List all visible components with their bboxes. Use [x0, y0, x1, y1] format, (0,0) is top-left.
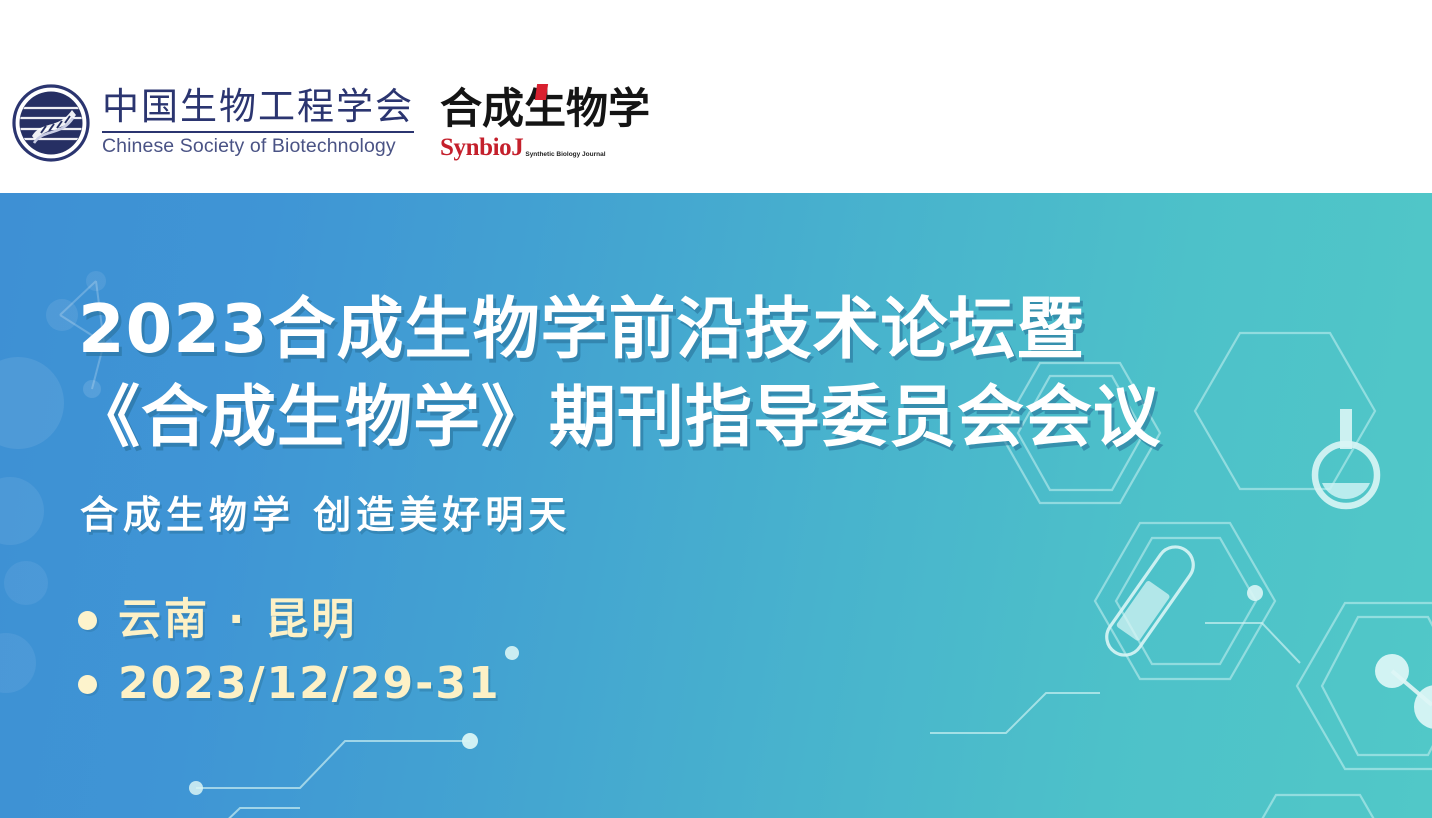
society-wordmark: 中国生物工程学会 Chinese Society of Biotechnolog…	[102, 84, 414, 157]
banner-location-text: 云南 · 昆明	[118, 594, 357, 646]
journal-logo: 合成生物学 SynbioJ Synthetic Biology Journal	[440, 84, 650, 161]
society-divider-rule	[102, 131, 414, 133]
banner-title-line-2: 《合成生物学》期刊指导委员会会议	[73, 378, 1161, 456]
banner-slogan: 合成生物学 创造美好明天	[80, 492, 571, 538]
chinese-society-of-biotechnology-emblem-icon	[12, 84, 90, 162]
bullet-dot-icon	[78, 675, 97, 694]
society-name-en: Chinese Society of Biotechnology	[102, 135, 414, 157]
journal-subtitle-group: SynbioJ Synthetic Biology Journal	[440, 135, 650, 161]
bullet-dot-icon	[78, 611, 97, 630]
logo-group: 中国生物工程学会 Chinese Society of Biotechnolog…	[12, 84, 650, 162]
banner-meta-date: 2023/12/29-31	[78, 652, 501, 716]
journal-tagline-en: Synthetic Biology Journal	[525, 151, 605, 162]
banner-meta-list: 云南 · 昆明 2023/12/29-31	[78, 588, 501, 716]
banner-meta-location: 云南 · 昆明	[78, 588, 501, 652]
banner-title-line-1: 2023合成生物学前沿技术论坛暨	[78, 290, 1084, 368]
banner-hero: 2023合成生物学前沿技术论坛暨 《合成生物学》期刊指导委员会会议 合成生物学 …	[0, 193, 1432, 818]
header-logo-strip: 中国生物工程学会 Chinese Society of Biotechnolog…	[0, 0, 1432, 193]
journal-name-en: SynbioJ	[440, 135, 523, 161]
society-name-cn: 中国生物工程学会	[102, 86, 414, 128]
banner-date-text: 2023/12/29-31	[118, 658, 501, 710]
journal-red-accent-icon	[535, 84, 548, 100]
banner-text-content: 2023合成生物学前沿技术论坛暨 《合成生物学》期刊指导委员会会议 合成生物学 …	[78, 193, 1432, 818]
conference-banner-page: 中国生物工程学会 Chinese Society of Biotechnolog…	[0, 0, 1432, 818]
